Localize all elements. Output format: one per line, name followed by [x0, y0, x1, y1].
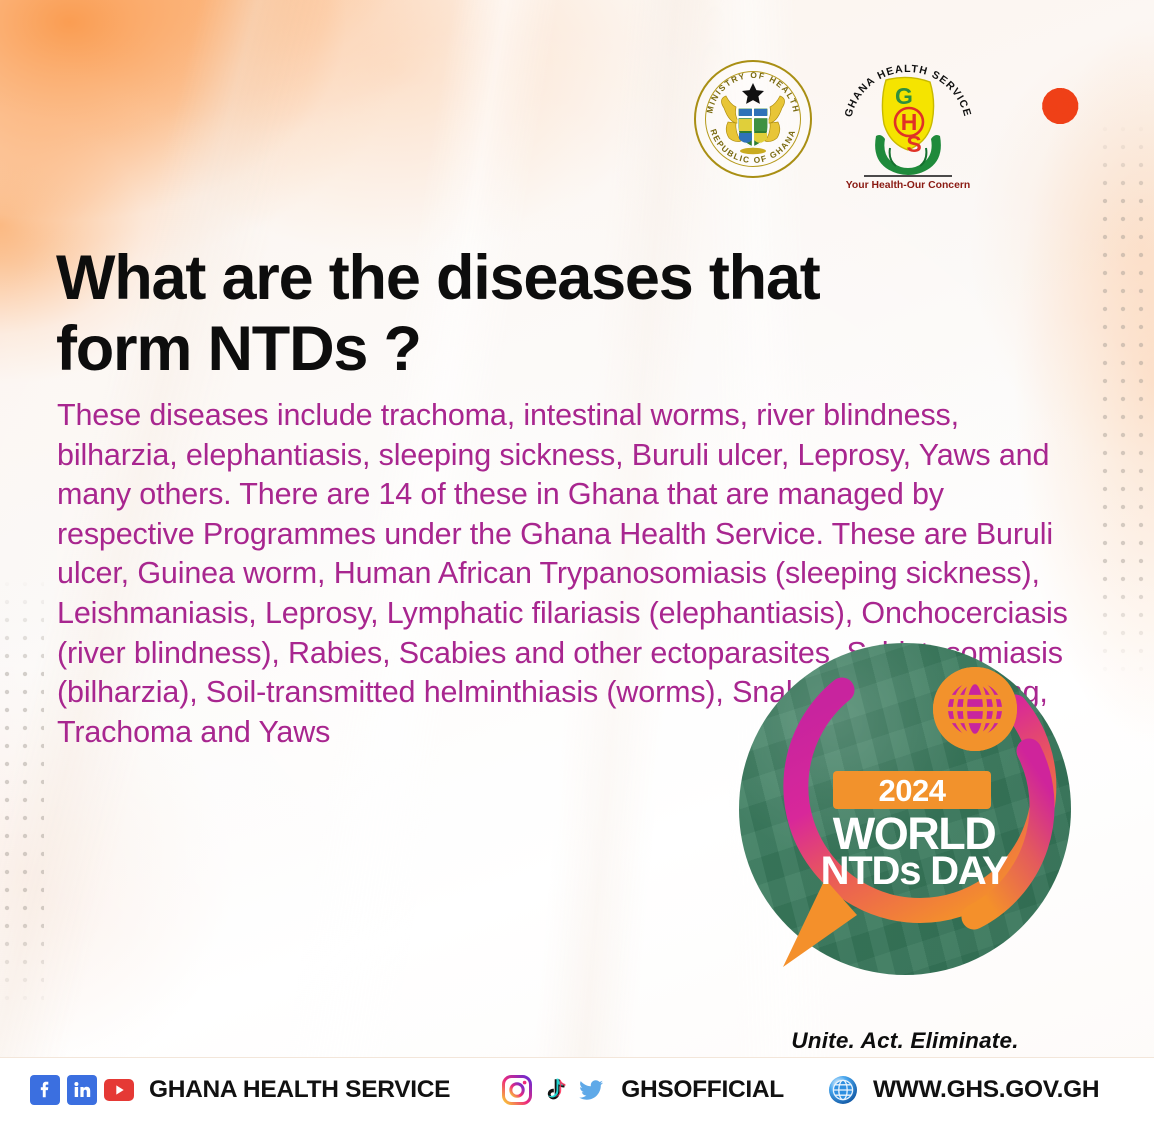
badge-year: 2024	[879, 775, 946, 806]
poster-canvas: MINISTRY OF HEALTH REPUBLIC OF GHANA	[0, 0, 1154, 1121]
badge-ntds-day-text: NTDs DAY	[799, 851, 1029, 891]
badge-tagline: Unite. Act. Eliminate.	[744, 1028, 1066, 1054]
halftone-dots-right	[1096, 120, 1154, 680]
instagram-icon[interactable]	[502, 1075, 532, 1105]
ntd-sunburst-icon	[1002, 68, 1118, 184]
footer-group-website: WWW.GHS.GOV.GH	[828, 1075, 1099, 1105]
svg-text:G: G	[895, 83, 913, 109]
headline-line-1: What are the diseases that	[56, 243, 820, 313]
twitter-icon[interactable]	[576, 1075, 606, 1105]
footer-label-website: WWW.GHS.GOV.GH	[873, 1076, 1099, 1104]
logo-row: MINISTRY OF HEALTH REPUBLIC OF GHANA	[694, 52, 1126, 192]
tiktok-icon[interactable]	[539, 1075, 569, 1105]
ministry-of-health-seal-icon: MINISTRY OF HEALTH REPUBLIC OF GHANA	[694, 60, 812, 178]
footer-bar: GHANA HEALTH SERVICE	[0, 1057, 1154, 1121]
headline-line-2: form NTDs ?	[56, 314, 936, 385]
ghana-health-service-logo-icon: GHANA HEALTH SERVICE G H S Your Health-O…	[842, 52, 974, 192]
svg-text:Your Health-Our Concern: Your Health-Our Concern	[846, 180, 971, 191]
globe-icon	[933, 667, 1017, 751]
footer-group-ghsofficial: GHSOFFICIAL	[502, 1075, 784, 1105]
facebook-icon[interactable]	[30, 1075, 60, 1105]
globe-website-icon[interactable]	[828, 1075, 858, 1105]
footer-label-ghsofficial: GHSOFFICIAL	[621, 1076, 784, 1104]
youtube-icon[interactable]	[104, 1075, 134, 1105]
footer-label-ghana-health-service: GHANA HEALTH SERVICE	[149, 1076, 450, 1104]
footer-group-ghana-health-service: GHANA HEALTH SERVICE	[30, 1075, 450, 1105]
linkedin-icon[interactable]	[67, 1075, 97, 1105]
halftone-dots-left	[0, 575, 44, 1015]
page-title: What are the diseases that form NTDs ?	[56, 243, 936, 384]
badge-year-box: 2024	[833, 771, 991, 809]
world-ntds-day-badge: 2024 WORLD NTDs DAY	[739, 643, 1071, 975]
